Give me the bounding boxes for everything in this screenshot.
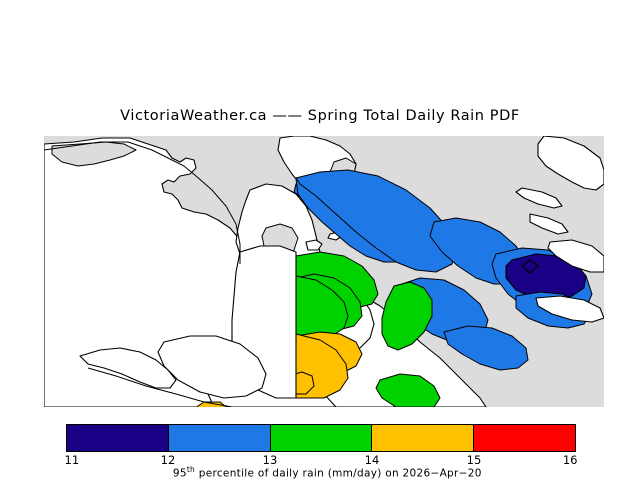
map-svg[interactable]	[44, 136, 604, 407]
colorbar-segment-14-15[interactable]	[372, 425, 474, 451]
screenshot-root: VictoriaWeather.ca —— Spring Total Daily…	[0, 0, 640, 480]
caption-superscript: th	[187, 465, 195, 474]
caption-prefix: 95	[173, 468, 187, 480]
colorbar-segments[interactable]	[66, 424, 576, 452]
caption-rest: percentile of daily rain (mm/day) on 202…	[195, 468, 482, 480]
colorbar-caption: 95th percentile of daily rain (mm/day) o…	[0, 453, 640, 492]
map-panel[interactable]	[44, 136, 604, 407]
page-title: VictoriaWeather.ca —— Spring Total Daily…	[0, 108, 640, 124]
colorbar[interactable]: 111213141516	[66, 424, 576, 452]
colorbar-segment-11-12[interactable]	[67, 425, 169, 451]
colorbar-segment-15-16[interactable]	[474, 425, 575, 451]
colorbar-segment-12-13[interactable]	[169, 425, 271, 451]
colorbar-segment-13-14[interactable]	[271, 425, 373, 451]
